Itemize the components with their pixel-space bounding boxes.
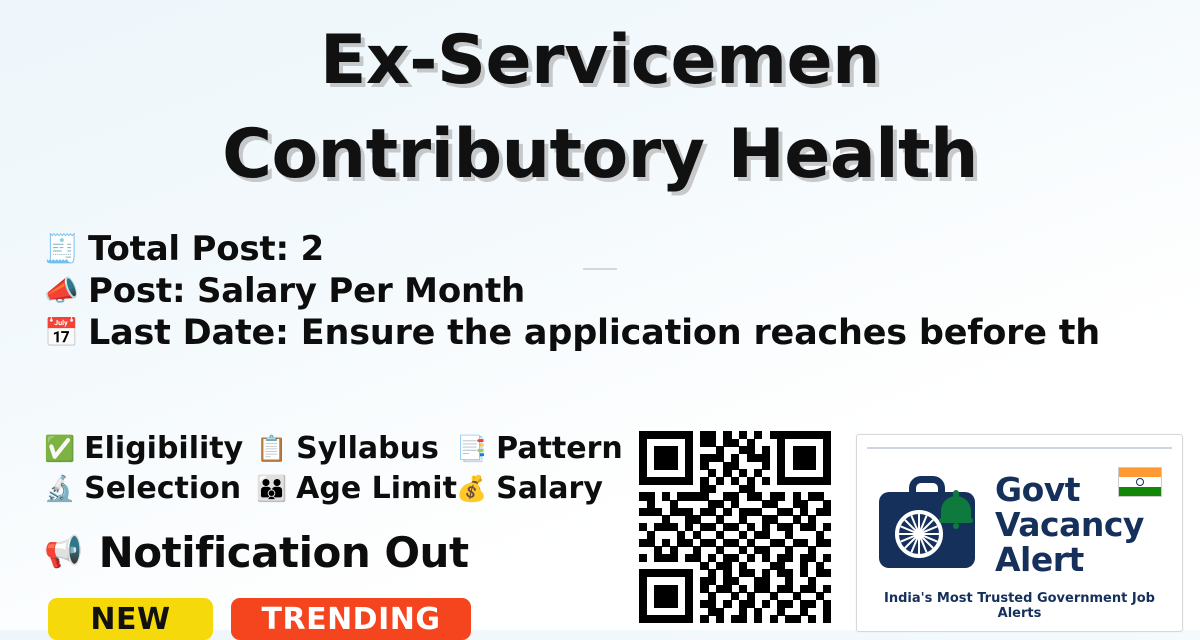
clipboard-icon: 📋 — [256, 436, 287, 461]
check-mark-icon: ✅ — [44, 436, 75, 461]
megaphone-icon: 📣 — [44, 277, 88, 305]
brand-word-2: Vacancy — [995, 507, 1172, 542]
calendar-icon: 📅 — [44, 319, 88, 347]
feature-pattern: 📑 Pattern — [456, 431, 656, 466]
job-poster: Ex-Servicemen Contributory Health 🧾 Tota… — [0, 0, 1200, 630]
feature-row: ✅ Eligibility 📋 Syllabus 📑 Pattern — [44, 428, 664, 468]
page-title: Ex-Servicemen Contributory Health — [0, 14, 1200, 202]
ashoka-chakra-icon — [895, 510, 943, 558]
notification-banner: 📢 Notification Out — [44, 528, 469, 577]
feature-label: Selection — [84, 471, 241, 506]
feature-label: Age Limit — [296, 471, 457, 506]
feature-label: Syllabus — [296, 431, 439, 466]
qr-code-canvas — [639, 431, 831, 623]
detail-row: 📣 Post: Salary Per Month — [44, 270, 1200, 312]
brand-word-3: Alert — [995, 542, 1172, 577]
status-badge-trending[interactable]: TRENDING — [231, 598, 471, 640]
detail-row: 🧾 Total Post: 2 — [44, 228, 1200, 270]
bell-icon — [939, 490, 973, 526]
feature-eligibility: ✅ Eligibility — [44, 431, 256, 466]
feature-label: Eligibility — [84, 431, 243, 466]
money-bag-icon: 💰 — [456, 476, 487, 501]
detail-row: 📅 Last Date: Ensure the application reac… — [44, 312, 1200, 354]
detail-post-salary: Post: Salary Per Month — [88, 271, 525, 311]
govt-vacancy-alert-logo: Govt Vacancy Alert India's Most Trusted … — [856, 434, 1183, 632]
feature-selection: 🔬 Selection — [44, 471, 256, 506]
brand-tagline: India's Most Trusted Government Job Aler… — [867, 591, 1172, 623]
notification-text: Notification Out — [99, 528, 469, 577]
feature-row: 🔬 Selection 👪 Age Limit 💰 Salary — [44, 468, 664, 508]
feature-syllabus: 📋 Syllabus — [256, 431, 456, 466]
family-icon: 👪 — [256, 476, 287, 501]
feature-age-limit: 👪 Age Limit — [256, 471, 456, 506]
status-badge-new[interactable]: NEW — [48, 598, 213, 640]
title-line-2: Contributory Health — [0, 108, 1200, 202]
loudspeaker-icon: 📢 — [44, 537, 83, 568]
exam-paper-icon: 📑 — [456, 436, 487, 461]
title-line-1: Ex-Servicemen — [0, 14, 1200, 108]
badge-row: NEW TRENDING — [48, 598, 471, 640]
detail-total-post: Total Post: 2 — [88, 229, 324, 269]
briefcase-icon — [867, 468, 991, 580]
feature-label: Salary — [496, 471, 603, 506]
feature-salary: 💰 Salary — [456, 471, 656, 506]
details-list: 🧾 Total Post: 2 📣 Post: Salary Per Month… — [44, 228, 1200, 354]
detail-last-date: Last Date: Ensure the application reache… — [88, 313, 1100, 353]
receipt-icon: 🧾 — [44, 235, 88, 263]
feature-label: Pattern — [496, 431, 623, 466]
qr-code[interactable] — [635, 427, 835, 630]
feature-grid: ✅ Eligibility 📋 Syllabus 📑 Pattern 🔬 Sel… — [44, 428, 664, 508]
india-flag-icon — [1118, 467, 1162, 497]
microscope-icon: 🔬 — [44, 476, 75, 501]
